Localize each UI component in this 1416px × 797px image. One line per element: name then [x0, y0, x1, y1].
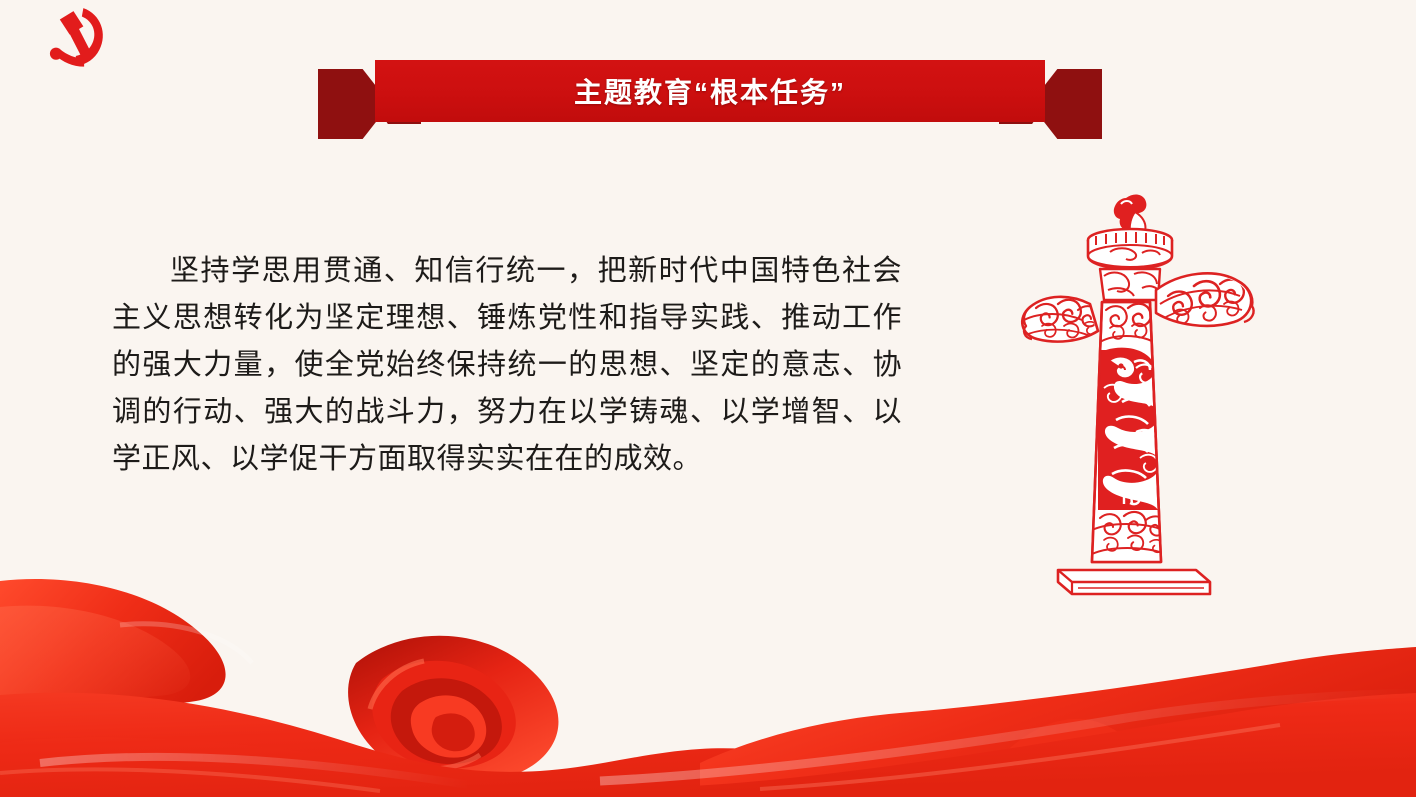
title-ribbon-banner: 主题教育“根本任务” [318, 52, 1102, 142]
red-silk-footer [0, 567, 1416, 797]
party-emblem-icon [34, 2, 116, 78]
page-title: 主题教育“根本任务” [574, 71, 846, 111]
huabiao-neck [1100, 269, 1160, 300]
huabiao-crown-figure [1114, 195, 1147, 232]
huabiao-cloud-board-right [1156, 273, 1254, 326]
huabiao-dish [1088, 229, 1172, 269]
body-paragraph: 坚持学思用贯通、知信行统一，把新时代中国特色社会主义思想转化为坚定理想、锤炼党性… [112, 248, 902, 483]
ribbon-body: 主题教育“根本任务” [375, 60, 1045, 122]
huabiao-shaft [1090, 302, 1166, 564]
huabiao-cloud-board-left [1022, 297, 1098, 342]
slide-canvas: 主题教育“根本任务” 坚持学思用贯通、知信行统一，把新时代中国特色社会主义思想转… [0, 0, 1416, 797]
huabiao-column-illustration [1018, 192, 1266, 604]
